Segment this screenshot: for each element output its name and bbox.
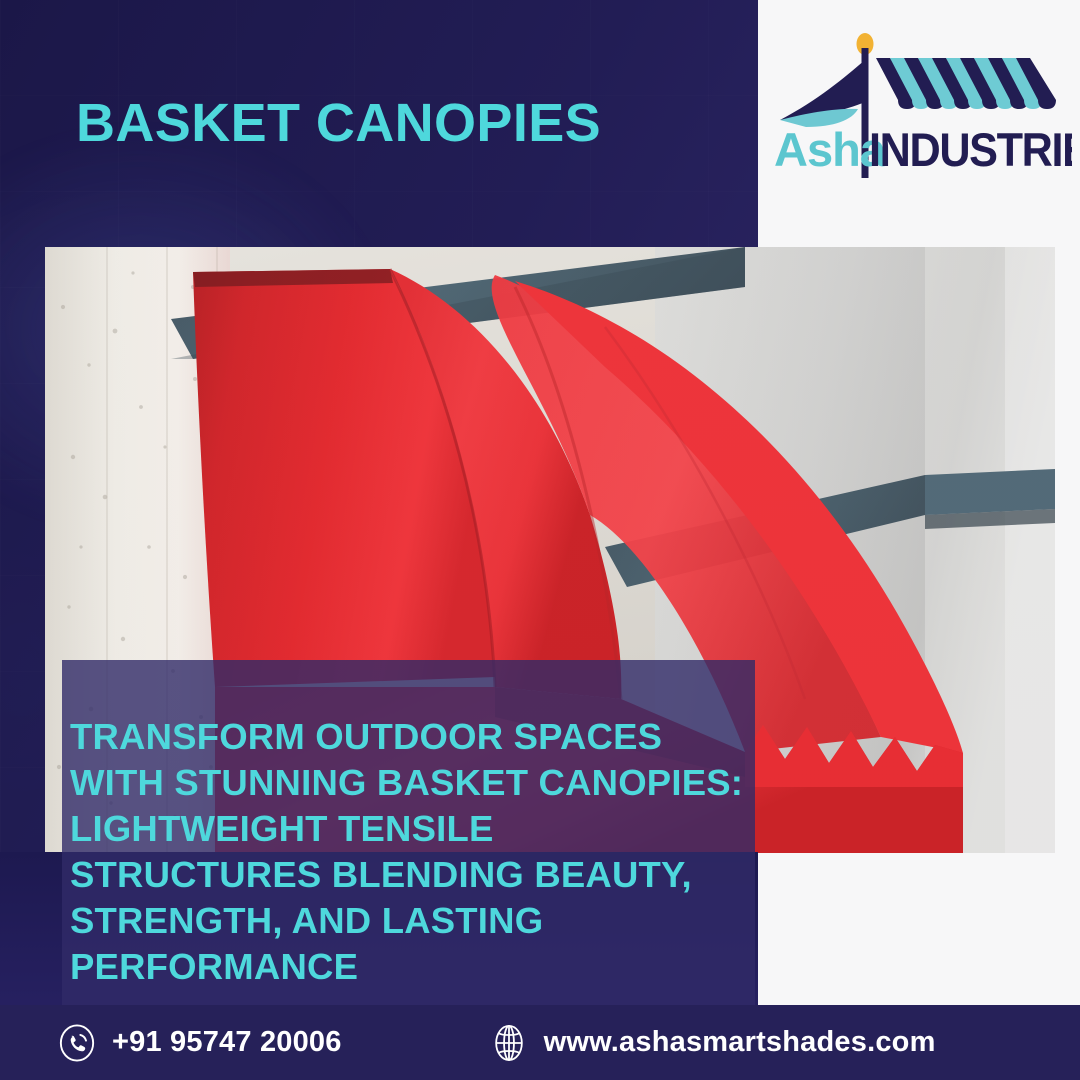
page-title: BASKET CANOPIES	[76, 96, 601, 150]
website-url: www.ashasmartshades.com	[544, 1026, 936, 1059]
website-contact[interactable]: www.ashasmartshades.com	[490, 1024, 936, 1062]
headline-text: TRANSFORM OUTDOOR SPACES WITH STUNNING B…	[70, 714, 750, 990]
contact-footer: +91 95747 20006 www.ashasmartshades.com	[0, 1005, 1080, 1080]
awning-canopy-icon: Asha INDUSTRIES	[766, 14, 1072, 194]
poster-canvas: BASKET CANOPIES	[0, 0, 1080, 1080]
svg-text:INDUSTRIES: INDUSTRIES	[869, 123, 1072, 176]
brand-logo: Asha INDUSTRIES Asha INDUSTRIES	[766, 14, 1072, 194]
phone-number: +91 95747 20006	[112, 1026, 342, 1059]
phone-contact[interactable]: +91 95747 20006	[58, 1024, 342, 1062]
logo-plate: Asha INDUSTRIES Asha INDUSTRIES	[758, 0, 1080, 208]
globe-icon	[490, 1024, 528, 1062]
phone-icon	[58, 1024, 96, 1062]
